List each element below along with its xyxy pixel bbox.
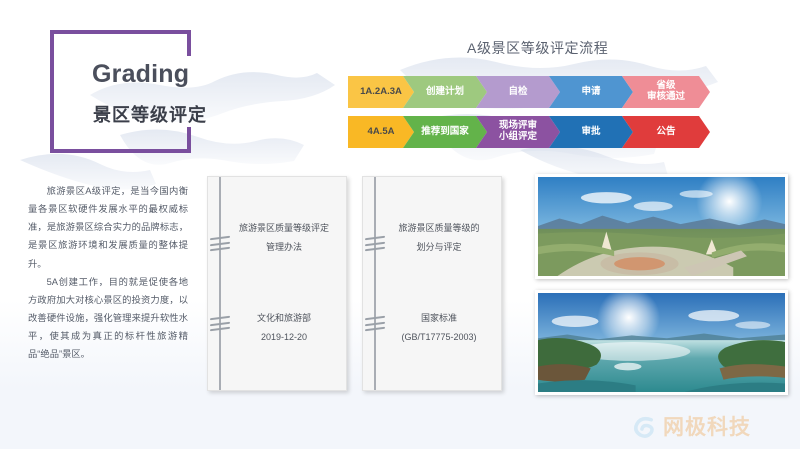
slide-canvas: Grading 景区等级评定 A级景区等级评定流程 1A.2A.3A创建计划自检…: [0, 0, 800, 449]
photo-scenic-park-aerial[interactable]: [535, 174, 788, 279]
doc-date: 2019-12-20: [230, 328, 338, 347]
flow-step-2-3[interactable]: 现场评审 小组评定: [476, 116, 560, 148]
doc-issuer: 文化和旅游部: [230, 309, 338, 328]
photo-scenic-park-image: [538, 177, 785, 276]
flow-step-2-1[interactable]: 4A.5A: [348, 116, 414, 148]
doc-management-measures[interactable]: 旅游景区质量等级评定 管理办法 文化和旅游部 2019-12-20: [207, 176, 347, 391]
doc-title-line1: 旅游景区质量等级的: [385, 219, 493, 238]
doc-footer: 文化和旅游部 2019-12-20: [230, 309, 338, 347]
flow-step-2-4[interactable]: 审批: [549, 116, 633, 148]
flow-step-1-5[interactable]: 省级 审核通过: [622, 76, 710, 108]
photo-lake-islands-image: [538, 293, 785, 392]
paragraph-1: 旅游景区A级评定，是当今国内衡量各景区软硬件发展水平的最权威标准，是旅游景区综合…: [28, 182, 188, 273]
flow-step-2-2[interactable]: 推荐到国家: [403, 116, 487, 148]
title-frame-decoration: [50, 30, 187, 153]
notebook-spine: [374, 177, 376, 390]
doc-title-line2: 管理办法: [230, 238, 338, 257]
watermark-logo: 网极科技: [631, 411, 751, 441]
description-paragraphs: 旅游景区A级评定，是当今国内衡量各景区软硬件发展水平的最权威标准，是旅游景区综合…: [28, 182, 188, 363]
doc-standard-code: (GB/T17775-2003): [385, 328, 493, 347]
spiral-rings-icon: [365, 237, 385, 254]
page-title-chinese: 景区等级评定: [93, 101, 207, 127]
flow-step-1-1[interactable]: 1A.2A.3A: [348, 76, 414, 108]
doc-title-line1: 旅游景区质量等级评定: [230, 219, 338, 238]
flow-step-1-3[interactable]: 自检: [476, 76, 560, 108]
doc-title-line2: 划分与评定: [385, 238, 493, 257]
flow-step-1-4[interactable]: 申请: [549, 76, 633, 108]
doc-national-standard[interactable]: 旅游景区质量等级的 划分与评定 国家标准 (GB/T17775-2003): [362, 176, 502, 391]
spiral-rings-icon: [210, 317, 230, 334]
spiral-rings-icon: [210, 237, 230, 254]
page-title-english: Grading: [92, 60, 189, 89]
doc-issuer: 国家标准: [385, 309, 493, 328]
watermark-text: 网极科技: [663, 411, 751, 441]
flow-step-2-5[interactable]: 公告: [622, 116, 710, 148]
paragraph-2: 5A创建工作，目的就是促使各地方政府加大对核心景区的投资力度，以改善硬件设施，强…: [28, 273, 188, 364]
spiral-rings-icon: [365, 317, 385, 334]
flowchart-title: A级景区等级评定流程: [467, 38, 608, 58]
swirl-logo-icon: [631, 413, 658, 440]
notebook-spine: [219, 177, 221, 390]
doc-title: 旅游景区质量等级的 划分与评定: [385, 219, 493, 257]
photo-lake-islands-aerial[interactable]: [535, 290, 788, 395]
doc-title: 旅游景区质量等级评定 管理办法: [230, 219, 338, 257]
doc-footer: 国家标准 (GB/T17775-2003): [385, 309, 493, 347]
flow-step-1-2[interactable]: 创建计划: [403, 76, 487, 108]
